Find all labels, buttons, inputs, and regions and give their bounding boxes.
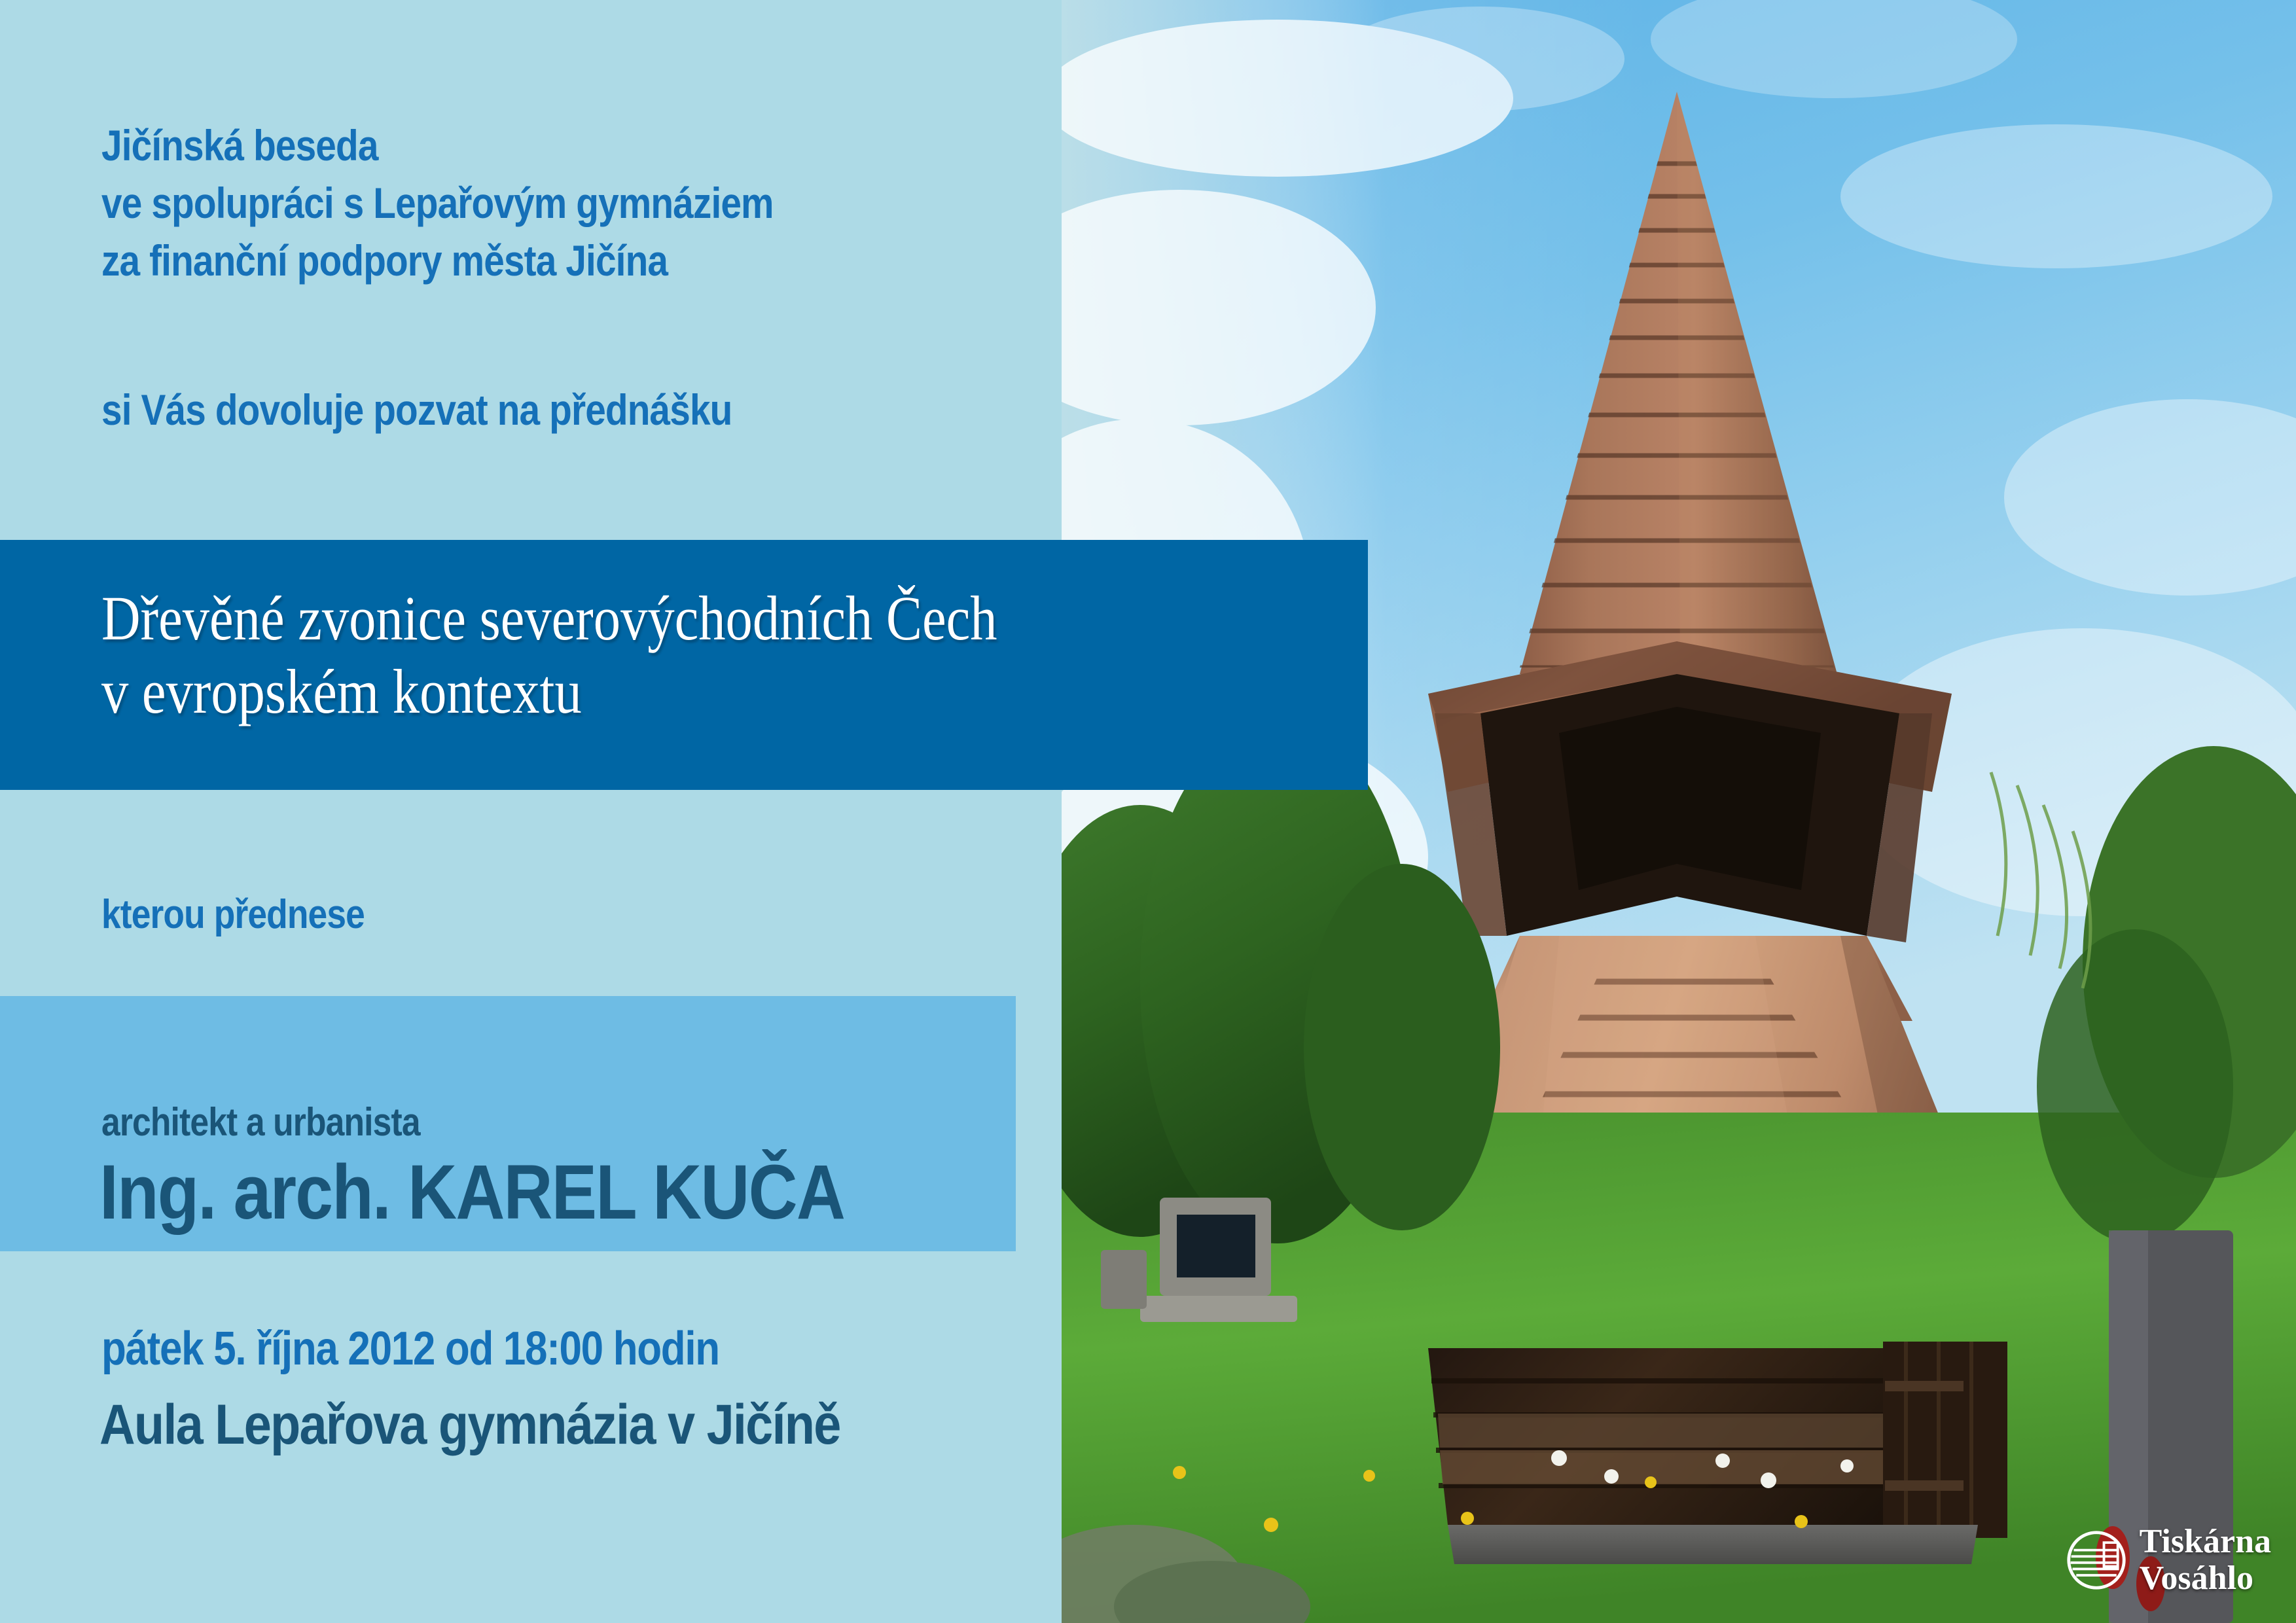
intro-line-2: ve spolupráci s Lepařovým gymnáziem (101, 174, 901, 232)
door-hinge-lower (1885, 1480, 1964, 1491)
speaker-band: architekt a urbanista Ing. arch. KAREL K… (0, 996, 1016, 1251)
event-venue: Aula Lepařova gymnázia v Jičíně (99, 1393, 840, 1457)
stone-foundation (1448, 1525, 1978, 1564)
bell-tower-photo: Tiskárna Vosáhlo (1062, 0, 2296, 1623)
lecture-title-line-2: v evropském kontextu (101, 655, 582, 728)
printer-wordmark: Tiskárna Vosáhlo (2140, 1524, 2271, 1597)
printer-name-line-2: Vosáhlo (2140, 1560, 2271, 1597)
printer-name-line-1: Tiskárna (2140, 1524, 2271, 1560)
door-hinge-upper (1885, 1381, 1964, 1391)
intro-line-3: za finanční podpory města Jičína (101, 232, 901, 289)
speaker-role: architekt a urbanista (101, 1099, 420, 1145)
lecturer-intro-label: kterou přednese (101, 891, 365, 938)
bell-tower-illustration (1062, 0, 2296, 1623)
title-banner: Dřevěné zvonice severovýchodních Čech v … (0, 540, 1368, 790)
tower-door (1883, 1342, 2007, 1538)
invitation-line: si Vás dovoluje pozvat na přednášku (101, 385, 732, 435)
speaker-name: Ing. arch. KAREL KUČA (99, 1148, 844, 1237)
intro-block: Jičínská beseda ve spolupráci s Lepařový… (101, 116, 1031, 289)
intro-line-1: Jičínská beseda (101, 116, 901, 174)
printer-logo: Tiskárna Vosáhlo (2065, 1524, 2271, 1597)
event-date: pátek 5. října 2012 od 18:00 hodin (101, 1322, 719, 1376)
lecture-title-line-1: Dřevěné zvonice severovýchodních Čech (101, 582, 997, 654)
poster: Jičínská beseda ve spolupráci s Lepařový… (0, 0, 2296, 1623)
printer-circle-logo-icon (2065, 1529, 2128, 1592)
